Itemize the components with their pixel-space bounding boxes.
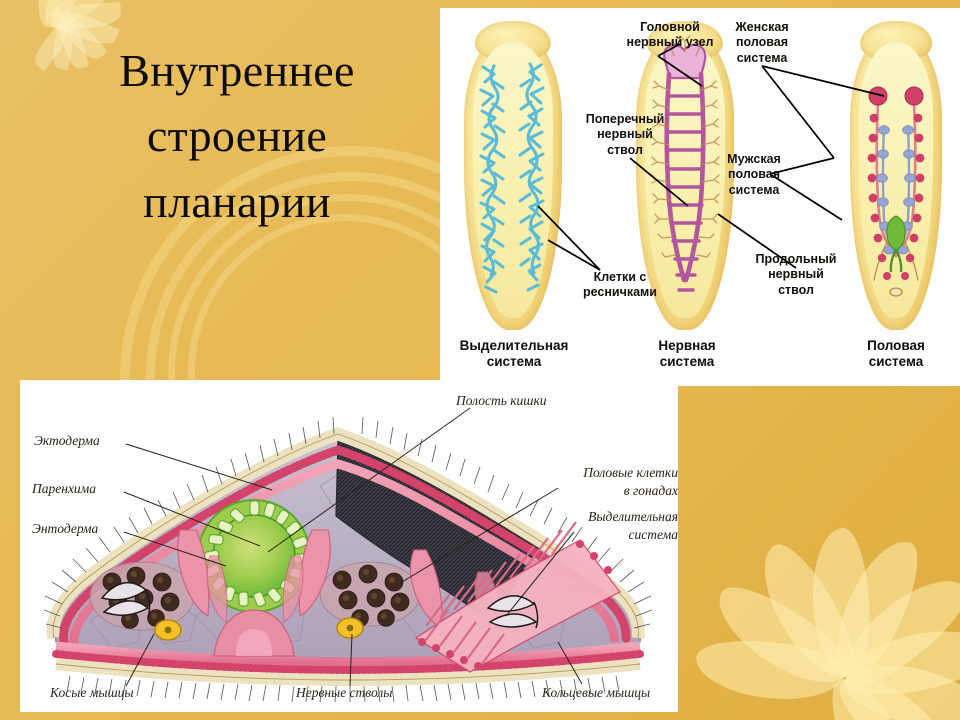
label-nerve-cords: Нервные стволы <box>296 684 392 702</box>
title-line-1: Внутреннее <box>52 38 422 103</box>
systems-leader-lines <box>440 8 960 386</box>
label-entoderm: Энтодерма <box>32 520 98 538</box>
label-ectoderm: Эктодерма <box>34 432 100 450</box>
systems-diagram-panel: Выделительная система <box>440 8 960 386</box>
petal-decoration <box>827 562 960 700</box>
title-line-3: планарии <box>52 169 422 234</box>
planarian-cross-section-drawing <box>20 380 678 712</box>
label-male-reproductive: Мужская половая система <box>704 152 804 198</box>
label-transverse-nerve: Поперечный нервный ствол <box>570 112 680 158</box>
petal-decoration <box>704 573 860 702</box>
petal-decoration <box>826 657 960 720</box>
title-line-2: строение <box>52 103 422 168</box>
label-brain-ganglion: Головной нервный узел <box>612 20 728 51</box>
slide-root: Внутреннее строение планарии Выделительн… <box>0 0 960 720</box>
petal-decoration <box>38 0 91 30</box>
label-excretory-system: Выделительная система <box>560 508 678 543</box>
page-title: Внутреннее строение планарии <box>52 38 422 234</box>
label-oblique-muscles: Косые мышцы <box>50 684 134 702</box>
petal-decoration <box>839 619 960 705</box>
petal-decoration <box>809 527 873 680</box>
petal-decoration <box>46 0 116 31</box>
petal-decoration <box>819 530 931 690</box>
petal-decoration <box>56 2 122 30</box>
label-gonad-cells: Половые клетки в гонадах <box>558 464 678 499</box>
label-longitudinal-nerve: Продольный нервный ствол <box>744 252 848 298</box>
label-circular-muscles: Кольцевые мышцы <box>542 684 650 702</box>
petal-decoration <box>36 0 64 28</box>
label-female-reproductive: Женская половая система <box>712 20 812 66</box>
petal-decoration <box>838 651 960 720</box>
label-parenchyma: Паренхима <box>32 480 96 498</box>
label-ciliated-cells: Клетки с ресничками <box>568 270 672 301</box>
petal-decoration <box>746 534 869 692</box>
petal-decoration <box>693 634 848 705</box>
label-gut-cavity: Полость кишки <box>456 392 547 410</box>
gonad-right <box>320 562 420 626</box>
flower-decoration <box>690 395 960 720</box>
petal-decoration <box>819 668 925 720</box>
cross-section-panel: Эктодерма Паренхима Энтодерма Полость ки… <box>20 380 678 712</box>
